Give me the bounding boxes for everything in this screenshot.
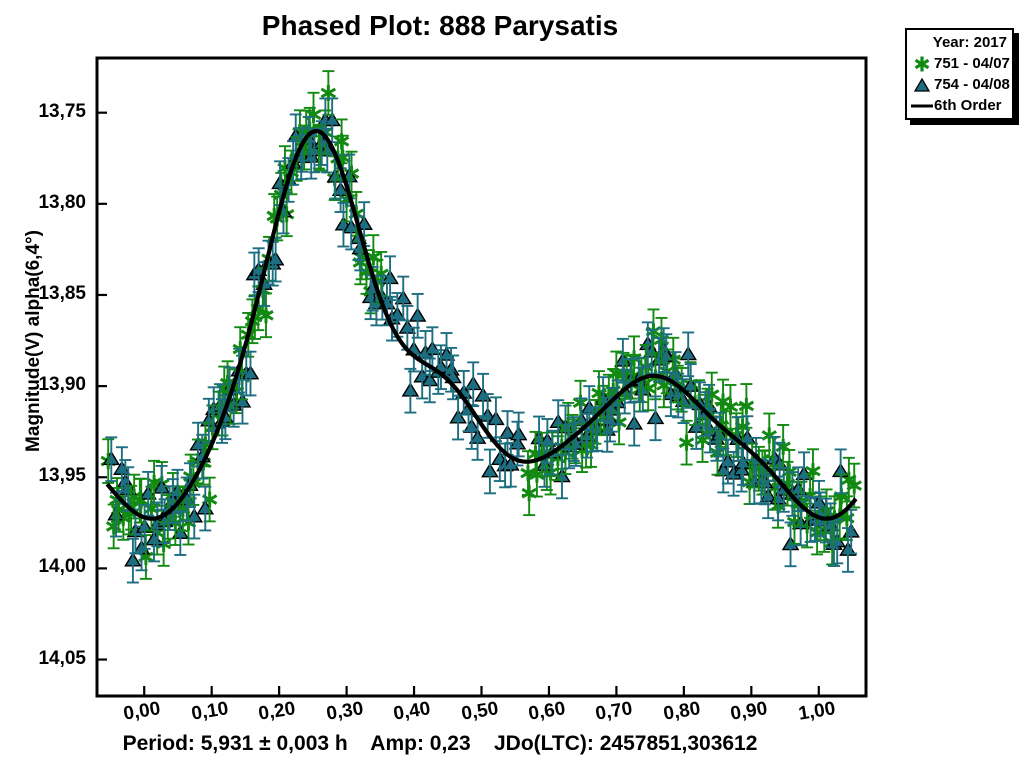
plot-frame <box>97 58 866 696</box>
phased-plot-figure: Phased Plot: 888 Parysatis Magnitude(V) … <box>0 0 1024 768</box>
caption-epoch: JDo(LTC): 2457851,303612 <box>494 732 757 755</box>
y-tick-label: 13,80 <box>0 192 86 214</box>
caption-period: Period: 5,931 ± 0,003 h <box>123 732 348 755</box>
plot-caption: Period: 5,931 ± 0,003 h Amp: 0,23 JDo(LT… <box>0 732 880 756</box>
asterisk-marker-icon <box>910 54 934 74</box>
y-tick-label: 13,90 <box>0 374 86 396</box>
error-bar <box>681 421 693 465</box>
legend-label-fit: 6th Order <box>934 97 1002 114</box>
caption-amplitude: Amp: 0,23 <box>370 732 470 755</box>
legend-label-751: 751 - 04/07 <box>934 55 1010 72</box>
legend-entry-751: 751 - 04/07 <box>907 53 1012 74</box>
y-tick-label: 13,85 <box>0 283 86 305</box>
error-bars <box>102 71 860 582</box>
legend-label-754: 754 - 04/08 <box>934 76 1010 93</box>
y-tick-label: 14,05 <box>0 648 86 670</box>
legend-entry-fit: 6th Order <box>907 95 1012 116</box>
plot-canvas <box>0 0 1024 768</box>
error-bar <box>807 449 819 493</box>
legend-entry-754: 754 - 04/08 <box>907 74 1012 95</box>
data-points <box>101 85 861 566</box>
y-tick-label: 13,75 <box>0 101 86 123</box>
triangle-marker-icon <box>910 75 934 95</box>
legend-box: Year: 2017 751 - 04/07 754 - 04/ <box>905 28 1014 120</box>
fit-line-icon <box>910 96 934 116</box>
legend-title: Year: 2017 <box>910 34 1012 51</box>
legend-title-row: Year: 2017 <box>907 32 1012 53</box>
y-tick-label: 14,00 <box>0 556 86 578</box>
y-tick-label: 13,95 <box>0 465 86 487</box>
